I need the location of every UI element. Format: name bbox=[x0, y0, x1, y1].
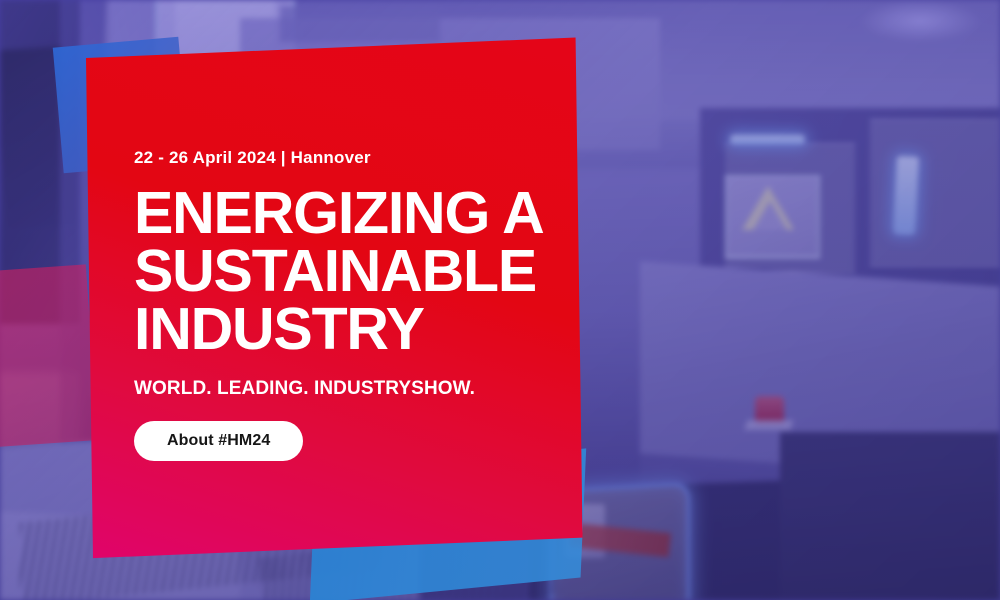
event-date-location: 22 - 26 April 2024 | Hannover bbox=[134, 148, 604, 168]
banner-content: 22 - 26 April 2024 | Hannover ENERGIZING… bbox=[134, 148, 604, 461]
decorative-magenta-square-left bbox=[0, 264, 98, 447]
banner-tagline: WORLD. LEADING. INDUSTRYSHOW. bbox=[134, 378, 604, 400]
page-title: ENERGIZING A SUSTAINABLE INDUSTRY bbox=[134, 185, 604, 358]
about-hm24-button[interactable]: About #HM24 bbox=[134, 421, 303, 461]
hero-banner: 22 - 26 April 2024 | Hannover ENERGIZING… bbox=[0, 0, 1000, 600]
